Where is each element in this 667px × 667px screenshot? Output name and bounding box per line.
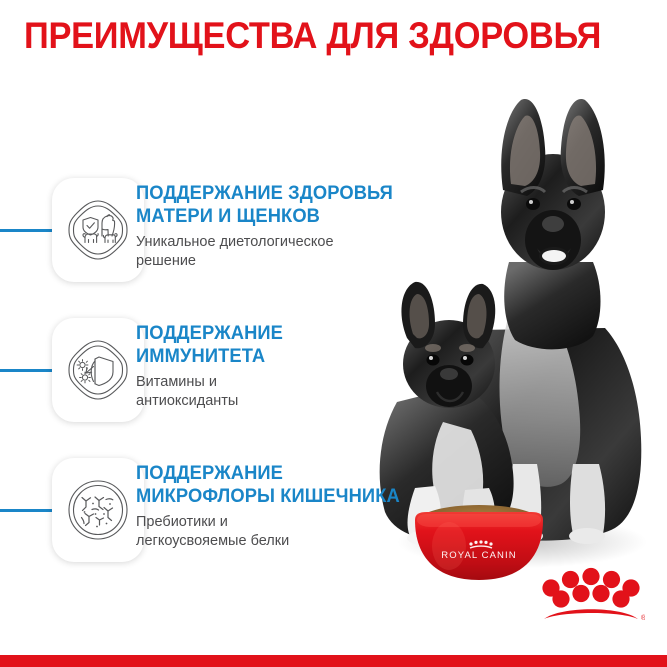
red-feeding-bowl: ROYAL CANIN (415, 505, 543, 580)
promo-page: ПРЕИМУЩЕСТВА ДЛЯ ЗДОРОВЬЯ (0, 0, 667, 667)
page-title: ПРЕИМУЩЕСТВА ДЛЯ ЗДОРОВЬЯ (24, 16, 605, 56)
crown-logo-icon: ® (537, 565, 645, 625)
benefit-description: Пребиотики и легкоусвояемые белки (136, 513, 426, 551)
benefit-description: Уникальное диетологическое решение (136, 233, 426, 271)
bowl-crown-icon (469, 540, 492, 548)
benefit-icon-card (52, 458, 144, 562)
benefit-row: ПОДДЕРЖАНИЕ МИКРОФЛОРЫ КИШЕЧНИКА Пребиот… (0, 458, 420, 562)
benefit-row: ПОДДЕРЖАНИЕ ИММУНИТЕТА Витамины и антиок… (0, 318, 420, 422)
benefit-icon-card (52, 318, 144, 422)
benefit-description: Витамины и антиоксиданты (136, 373, 426, 411)
benefit-text-block: ПОДДЕРЖАНИЕ МИКРОФЛОРЫ КИШЕЧНИКА Пребиот… (136, 462, 426, 551)
mother-dog-and-puppies-shield-icon (66, 198, 130, 262)
benefit-heading: ПОДДЕРЖАНИЕ МИКРОФЛОРЫ КИШЕЧНИКА (136, 462, 409, 508)
adult-dog (461, 99, 641, 544)
benefit-text-block: ПОДДЕРЖАНИЕ ИММУНИТЕТА Витамины и антиок… (136, 322, 426, 411)
petri-dish-bacteria-icon (66, 478, 130, 542)
shield-deflecting-germs-icon (66, 338, 130, 402)
benefit-heading: ПОДДЕРЖАНИЕ ЗДОРОВЬЯ МАТЕРИ И ЩЕНКОВ (136, 182, 409, 228)
benefit-icon-card (52, 178, 144, 282)
benefit-row: ПОДДЕРЖАНИЕ ЗДОРОВЬЯ МАТЕРИ И ЩЕНКОВ Уни… (0, 178, 420, 282)
royal-canin-crown-logo: ® (537, 565, 645, 625)
bottom-red-bar (0, 655, 667, 667)
benefit-heading: ПОДДЕРЖАНИЕ ИММУНИТЕТА (136, 322, 409, 368)
bowl-brand-text: ROYAL CANIN (441, 550, 516, 561)
registered-trademark-mark: ® (641, 614, 645, 622)
benefit-text-block: ПОДДЕРЖАНИЕ ЗДОРОВЬЯ МАТЕРИ И ЩЕНКОВ Уни… (136, 182, 426, 271)
